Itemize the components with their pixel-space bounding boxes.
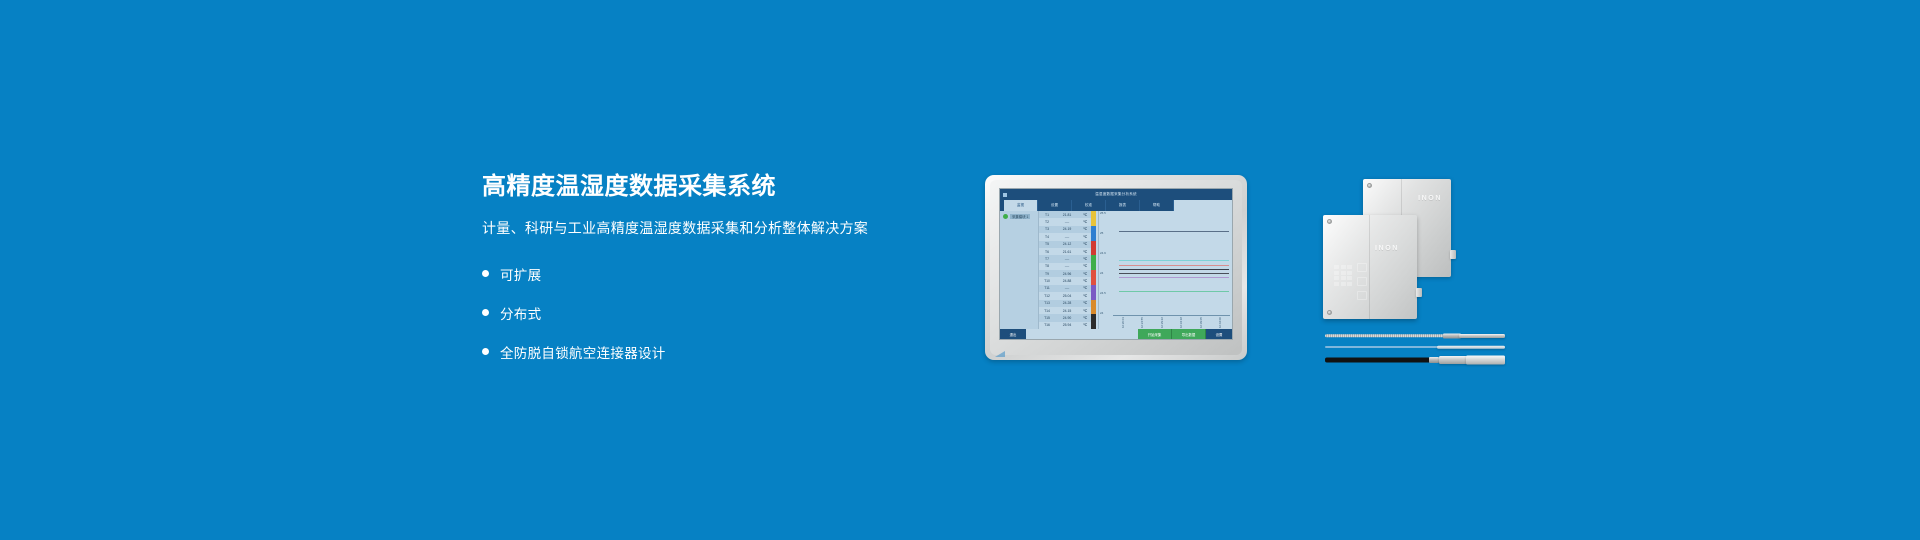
channel-value: 24.12 (1055, 242, 1079, 246)
channel-value: 24.90 (1055, 316, 1079, 320)
temperature-probe-thin (1325, 345, 1505, 349)
channel-name: T5 (1039, 242, 1055, 246)
channel-value: ---- (1055, 257, 1079, 261)
channel-value: 24.96 (1055, 272, 1079, 276)
etch-port (1357, 291, 1367, 300)
humidity-probe-connector (1325, 355, 1505, 364)
settings-button[interactable]: 设置 (1206, 329, 1232, 339)
brand-logo: INON (1375, 245, 1399, 252)
probe-cable (1325, 346, 1441, 348)
panel-pc-monitor: 温湿度数据采集分析系统 监视 设置 校准 报表 帮助 (985, 175, 1247, 360)
legend-swatch (1091, 300, 1096, 315)
trend-chart: 25.52524.92424.524 16:20:0116:24:5516:29… (1098, 211, 1232, 329)
app-titlebar: 温湿度数据采集分析系统 (1000, 189, 1232, 200)
channel-value: 24.19 (1055, 227, 1079, 231)
statusbar-spacer (1026, 329, 1138, 339)
channel-name: T14 (1039, 309, 1055, 313)
exit-button[interactable]: 退出 (1000, 329, 1026, 339)
page-subtitle: 计量、科研与工业高精度温湿度数据采集和分析整体解决方案 (482, 219, 952, 239)
feature-item-scalable: 可扩展 (482, 259, 952, 289)
channel-unit: ℃ (1079, 250, 1091, 254)
channel-name: T6 (1039, 250, 1055, 254)
channel-unit: ℃ (1079, 279, 1091, 283)
screw-icon (1327, 219, 1332, 224)
x-tick-label: 16:20:01 (1121, 316, 1125, 328)
product-image-group: 温湿度数据采集分析系统 监视 设置 校准 报表 帮助 (985, 175, 1505, 365)
x-tick-label: 16:29:22 (1160, 316, 1164, 328)
app-tabbar: 监视 设置 校准 报表 帮助 (1000, 200, 1232, 211)
table-row[interactable]: T1625.94℃ (1039, 322, 1091, 329)
app-window-title: 温湿度数据采集分析系统 (1000, 192, 1232, 197)
tab-report[interactable]: 报表 (1106, 200, 1140, 211)
table-row[interactable]: T121.81℃ (1039, 211, 1091, 218)
trend-line-T1 (1119, 231, 1229, 232)
temperature-probe-braided (1325, 333, 1505, 338)
channel-name: T16 (1039, 323, 1055, 327)
bullet-dot-icon (482, 348, 489, 355)
channel-name: T8 (1039, 264, 1055, 268)
table-row[interactable]: T524.12℃ (1039, 241, 1091, 248)
start-acquisition-button[interactable]: 开始采集 (1138, 329, 1172, 339)
probe-connector-body (1439, 356, 1467, 364)
channel-name: T15 (1039, 316, 1055, 320)
chart-plot-area (1101, 213, 1230, 315)
tab-help[interactable]: 帮助 (1140, 200, 1174, 211)
trend-line-T6 (1119, 269, 1229, 270)
status-online-icon (1003, 214, 1008, 219)
x-tick-label: 16:39:05 (1199, 316, 1203, 328)
legend-swatch (1091, 314, 1096, 329)
channel-value: ---- (1055, 220, 1079, 224)
trend-line-T15 (1119, 291, 1229, 292)
banner-text-block: 高精度温湿度数据采集系统 计量、科研与工业高精度温湿度数据采集和分析整体解决方案… (482, 172, 952, 376)
x-tick-label: 16:44:00 (1218, 316, 1222, 328)
tab-settings[interactable]: 设置 (1038, 200, 1072, 211)
channel-name: T12 (1039, 294, 1055, 298)
channel-unit: ℃ (1079, 309, 1091, 313)
channel-unit: ℃ (1079, 257, 1091, 261)
etch-grid (1334, 265, 1352, 286)
etch-port (1357, 263, 1367, 272)
channel-table: T121.81℃T2----℃T324.19℃T4----℃T524.12℃T6… (1039, 211, 1091, 329)
channel-value: 24.15 (1055, 309, 1079, 313)
table-row[interactable]: T1225.04℃ (1039, 292, 1091, 299)
table-row[interactable]: T1324.28℃ (1039, 300, 1091, 307)
legend-swatch (1091, 255, 1096, 270)
data-logger-module-front: INON (1323, 215, 1417, 319)
feature-label: 可扩展 (500, 264, 541, 284)
feature-list: 可扩展 分布式 全防脱自锁航空连接器设计 (482, 259, 952, 367)
channel-unit: ℃ (1079, 286, 1091, 290)
channel-value: 21.81 (1055, 213, 1079, 217)
trend-line-T9 (1119, 273, 1229, 274)
channel-unit: ℃ (1079, 323, 1091, 327)
probe-tip (1437, 346, 1505, 349)
table-row[interactable]: T324.19℃ (1039, 226, 1091, 233)
channel-name: T2 (1039, 220, 1055, 224)
export-data-button[interactable]: 导出数据 (1172, 329, 1206, 339)
table-row[interactable]: T924.96℃ (1039, 270, 1091, 277)
app-statusbar: 退出 开始采集 导出数据 设置 (1000, 329, 1232, 339)
tree-node-module[interactable]: 采集模块 1 (1003, 214, 1035, 219)
channel-unit: ℃ (1079, 264, 1091, 268)
channel-color-legend (1091, 211, 1096, 329)
channel-unit: ℃ (1079, 301, 1091, 305)
bullet-dot-icon (482, 309, 489, 316)
trend-line-T3 (1119, 260, 1229, 261)
channel-unit: ℃ (1079, 272, 1091, 276)
channel-unit: ℃ (1079, 220, 1091, 224)
screw-icon (1367, 183, 1372, 188)
table-row[interactable]: T8----℃ (1039, 263, 1091, 270)
table-row[interactable]: T1024.88℃ (1039, 277, 1091, 284)
legend-swatch (1091, 241, 1096, 256)
tabbar-filler (1174, 200, 1232, 211)
feature-item-distributed: 分布式 (482, 298, 952, 328)
channel-value: ---- (1055, 264, 1079, 268)
legend-swatch (1091, 285, 1096, 300)
feature-label: 全防脱自锁航空连接器设计 (500, 342, 666, 362)
channel-unit: ℃ (1079, 294, 1091, 298)
channel-unit: ℃ (1079, 227, 1091, 231)
channel-name: T13 (1039, 301, 1055, 305)
channel-name: T3 (1039, 227, 1055, 231)
probe-ferrule (1429, 357, 1439, 363)
channel-value: 24.88 (1055, 279, 1079, 283)
legend-swatch (1091, 226, 1096, 241)
channel-value: 21.61 (1055, 250, 1079, 254)
trend-line-T5 (1119, 265, 1229, 266)
table-row[interactable]: T4----℃ (1039, 233, 1091, 240)
feature-item-connector: 全防脱自锁航空连接器设计 (482, 337, 952, 367)
connector-port (1450, 250, 1456, 259)
app-body: 采集模块 1 T121.81℃T2----℃T324.19℃T4----℃T52… (1000, 211, 1232, 329)
channel-value: 25.94 (1055, 323, 1079, 327)
etched-label-panel (1334, 263, 1378, 305)
probe-cable (1325, 357, 1433, 362)
connector-port (1416, 288, 1422, 297)
tab-monitor[interactable]: 监视 (1004, 200, 1038, 211)
chart-x-axis: 16:20:0116:24:5516:29:2216:34:1816:39:05… (1113, 315, 1230, 328)
bullet-dot-icon (482, 270, 489, 277)
channel-value: ---- (1055, 286, 1079, 290)
feature-label: 分布式 (500, 303, 541, 323)
tab-calibration[interactable]: 校准 (1072, 200, 1106, 211)
table-row[interactable]: T1524.90℃ (1039, 314, 1091, 321)
channel-name: T4 (1039, 235, 1055, 239)
x-tick-label: 16:34:18 (1179, 316, 1183, 328)
channel-unit: ℃ (1079, 242, 1091, 246)
channel-name: T10 (1039, 279, 1055, 283)
channel-value: 24.28 (1055, 301, 1079, 305)
table-row[interactable]: T1424.15℃ (1039, 307, 1091, 314)
channel-name: T11 (1039, 286, 1055, 290)
channel-value: 25.04 (1055, 294, 1079, 298)
channel-name: T9 (1039, 272, 1055, 276)
channel-unit: ℃ (1079, 316, 1091, 320)
probe-sensor-housing (1466, 355, 1505, 364)
monitor-inner-frame: 温湿度数据采集分析系统 监视 设置 校准 报表 帮助 (990, 180, 1242, 355)
probe-cable (1325, 334, 1447, 338)
channel-unit: ℃ (1079, 235, 1091, 239)
device-tree-sidebar: 采集模块 1 (1000, 211, 1039, 329)
trend-line-T12 (1119, 277, 1229, 278)
brand-logo: INON (1418, 195, 1442, 202)
probe-tip (1459, 334, 1505, 338)
table-row[interactable]: T621.61℃ (1039, 248, 1091, 255)
table-row[interactable]: T2----℃ (1039, 218, 1091, 225)
page-title: 高精度温湿度数据采集系统 (482, 172, 952, 202)
channel-unit: ℃ (1079, 213, 1091, 217)
channel-value: ---- (1055, 235, 1079, 239)
table-row[interactable]: T11----℃ (1039, 285, 1091, 292)
screw-icon (1327, 310, 1332, 315)
channel-name: T7 (1039, 257, 1055, 261)
legend-swatch (1091, 270, 1096, 285)
channel-name: T1 (1039, 213, 1055, 217)
monitor-screen: 温湿度数据采集分析系统 监视 设置 校准 报表 帮助 (999, 188, 1233, 340)
legend-swatch (1091, 211, 1096, 226)
etch-port (1357, 277, 1367, 286)
monitor-bezel: 温湿度数据采集分析系统 监视 设置 校准 报表 帮助 (985, 175, 1247, 360)
x-tick-label: 16:24:55 (1140, 316, 1144, 328)
product-banner: 高精度温湿度数据采集系统 计量、科研与工业高精度温湿度数据采集和分析整体解决方案… (0, 0, 1920, 540)
tree-node-label: 采集模块 1 (1010, 214, 1030, 219)
table-row[interactable]: T7----℃ (1039, 255, 1091, 262)
